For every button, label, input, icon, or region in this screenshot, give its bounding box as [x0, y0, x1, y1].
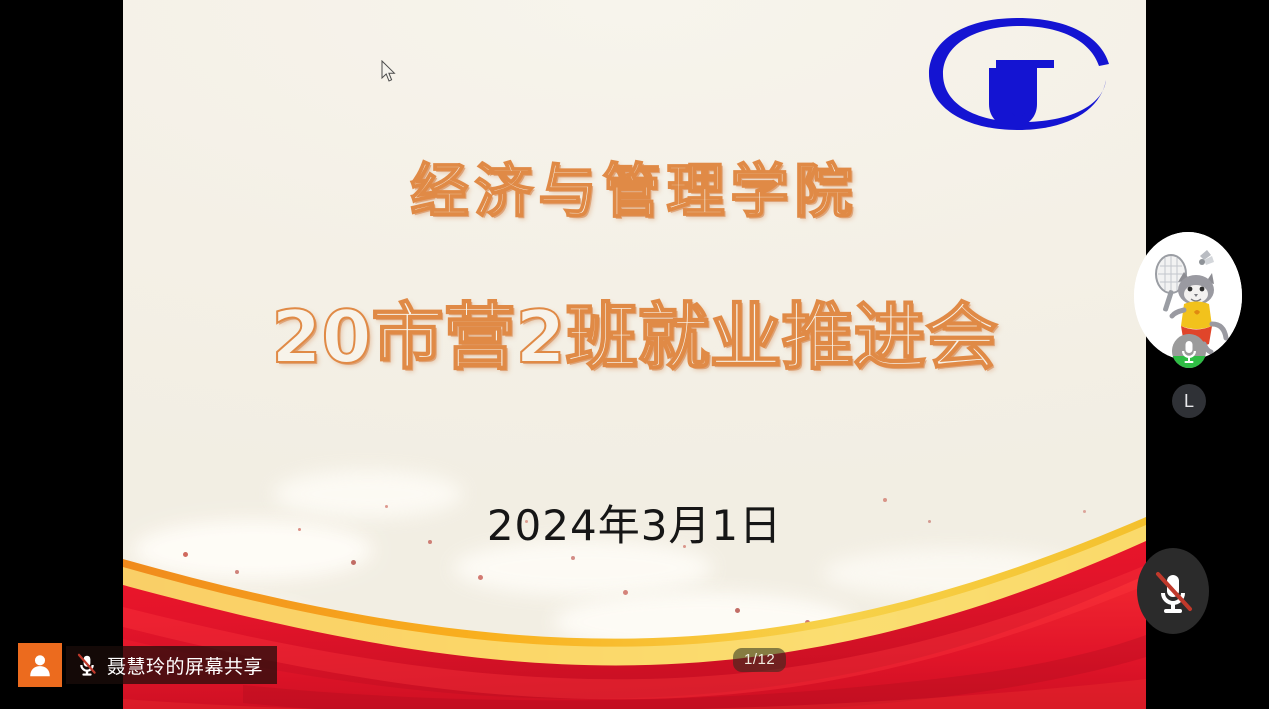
- video-call-stage: 经济与管理学院 20市营2班就业推进会 2024年3月1日: [0, 0, 1269, 709]
- screen-share-label: 聂慧玲的屏幕共享: [107, 652, 263, 679]
- slide-title-line-1: 经济与管理学院: [123, 144, 1146, 228]
- microphone-mute-button[interactable]: [1137, 548, 1209, 634]
- slide-title-line-2: 20市营2班就业推进会: [123, 278, 1146, 383]
- person-icon: [18, 643, 62, 687]
- shared-slide[interactable]: 经济与管理学院 20市营2班就业推进会 2024年3月1日: [123, 0, 1146, 709]
- microphone-muted-icon: [76, 652, 98, 678]
- slide-page-indicator: 1/12: [733, 648, 786, 672]
- arrow-cursor: [381, 60, 397, 84]
- self-avatar[interactable]: L: [1172, 384, 1206, 418]
- screen-share-label-wrap: 聂慧玲的屏幕共享: [66, 646, 277, 684]
- microphone-muted-icon: [1145, 563, 1201, 619]
- university-logo: [923, 14, 1113, 134]
- self-avatar-initial: L: [1184, 391, 1194, 412]
- screen-share-banner: 聂慧玲的屏幕共享: [18, 643, 277, 687]
- microphone-level-icon: [1172, 334, 1206, 368]
